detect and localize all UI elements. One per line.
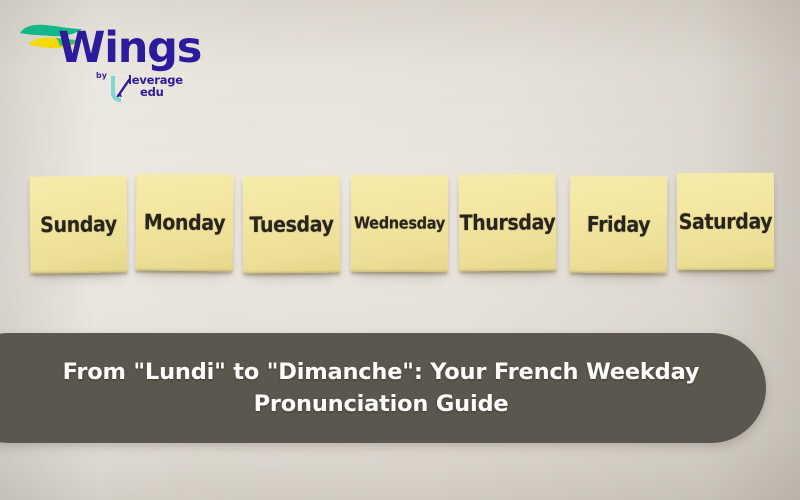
sticky-note-label: Wednesday [354,214,445,232]
sticky-note-saturday: Saturday [677,173,775,271]
sticky-note-label: Saturday [679,209,773,234]
sticky-note-label: Monday [144,210,226,235]
sticky-note-thursday: Thursday [459,174,557,272]
caption-title: From "Lundi" to "Dimanche": Your French … [36,356,726,420]
sticky-note-wednesday: Wednesday [351,175,449,273]
image-canvas: Wings by leverage edu Sunday Monday Tues… [0,0,800,500]
sticky-note-tuesday: Tuesday [243,176,341,274]
sticky-note-friday: Friday [570,176,668,274]
sticky-note-monday: Monday [135,173,233,271]
sticky-note-label: Tuesday [249,212,333,237]
caption-banner: From "Lundi" to "Dimanche": Your French … [0,333,766,443]
sticky-note-label: Thursday [460,210,556,235]
sticky-note-label: Friday [587,212,651,237]
sticky-note-sunday: Sunday [29,175,127,273]
sticky-note-label: Sunday [40,212,117,238]
